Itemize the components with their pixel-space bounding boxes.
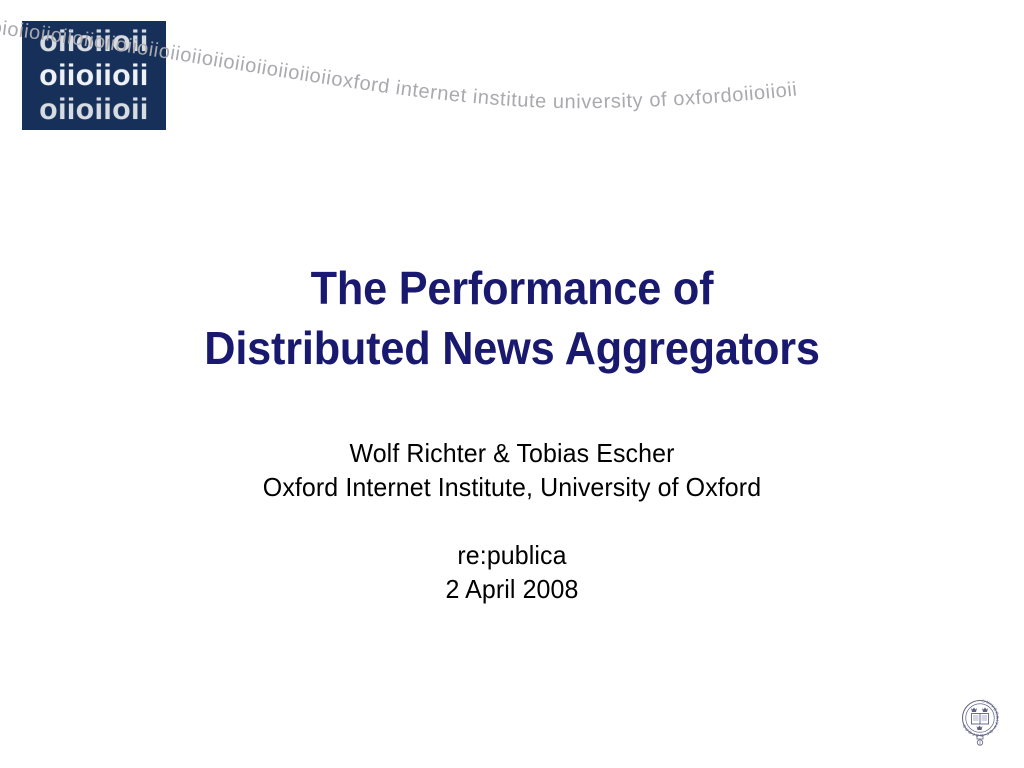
event-date: 2 April 2008 bbox=[20, 572, 1003, 606]
title-line-1: The Performance of bbox=[31, 258, 994, 318]
crest-open-book bbox=[972, 714, 989, 725]
page-title: The Performance of Distributed News Aggr… bbox=[0, 258, 1024, 378]
title-slide: oiioiioii oiioiioii oiioiioii iioioiioii… bbox=[0, 0, 1024, 768]
author-names: Wolf Richter & Tobias Escher bbox=[20, 436, 1003, 470]
university-of-oxford-crest: UNIVERSITY OF OXFORD bbox=[957, 696, 1003, 748]
event-block: re:publica 2 April 2008 bbox=[0, 538, 1024, 606]
oii-logo-row-1: oiioiioii bbox=[39, 25, 149, 59]
title-line-2: Distributed News Aggregators bbox=[31, 318, 994, 378]
oii-logo-row-2: oiioiioii bbox=[39, 59, 149, 93]
event-name: re:publica bbox=[20, 538, 1003, 572]
oii-logo: oiioiioii oiioiioii oiioiioii bbox=[22, 21, 166, 130]
oii-logo-row-3: oiioiioii bbox=[39, 93, 149, 127]
author-block: Wolf Richter & Tobias Escher Oxford Inte… bbox=[0, 436, 1024, 504]
author-affiliation: Oxford Internet Institute, University of… bbox=[20, 470, 1003, 504]
